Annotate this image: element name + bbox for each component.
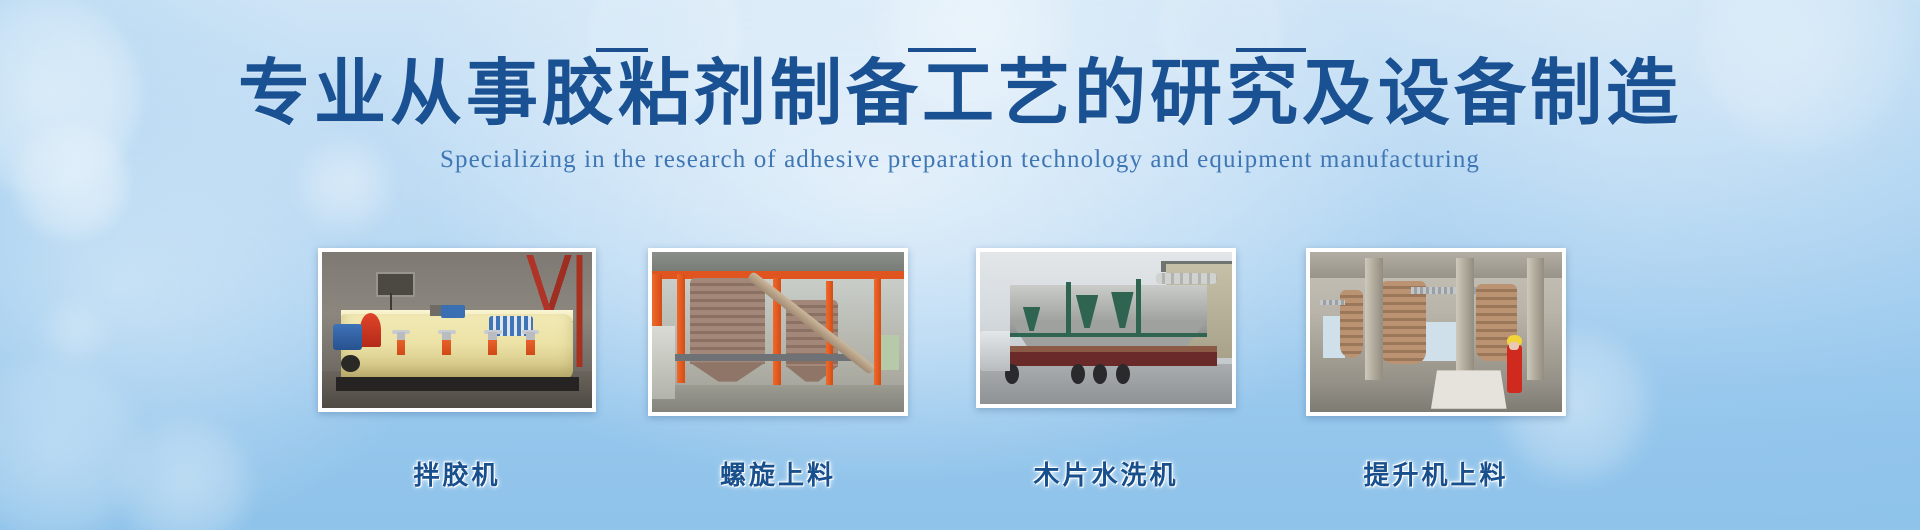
page-title: 专业从事胶粘剂制备工艺的研究及设备制造: [0, 56, 1920, 132]
photo-caption-1: 拌胶机: [318, 455, 596, 492]
page-subtitle: Specializing in the research of adhesive…: [0, 146, 1920, 174]
photo-card-2[interactable]: [648, 248, 908, 416]
photo-elevator-feeding: [1310, 252, 1562, 412]
promo-banner: 专业从事胶粘剂制备工艺的研究及设备制造 Specializing in the …: [0, 0, 1920, 530]
photo-caption-2: 螺旋上料: [648, 455, 908, 492]
photo-card-3[interactable]: [976, 248, 1236, 408]
photo-spiral-feeder: [652, 252, 904, 412]
photo-caption-4: 提升机上料: [1306, 455, 1566, 492]
photo-caption-3: 木片水洗机: [976, 455, 1236, 492]
photo-glue-mixer: [322, 252, 592, 408]
photo-strip: [0, 248, 1920, 448]
headline-block: 专业从事胶粘剂制备工艺的研究及设备制造 Specializing in the …: [0, 56, 1920, 174]
photo-chip-washer: [980, 252, 1232, 404]
photo-card-1[interactable]: [318, 248, 596, 412]
photo-card-4[interactable]: [1306, 248, 1566, 416]
